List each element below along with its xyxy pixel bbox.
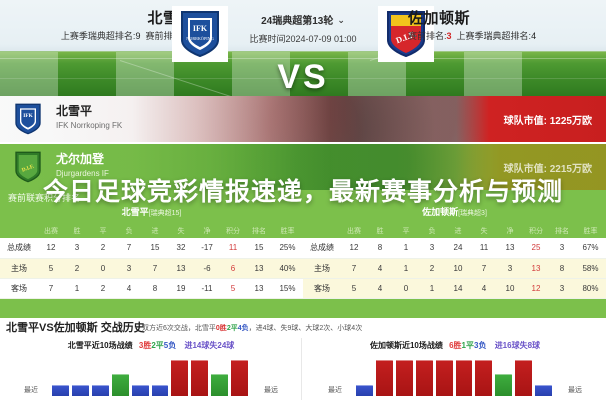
standings-home-header-row: 出赛 胜 平 负 进 失 净 积分 排名 胜率 bbox=[0, 224, 303, 238]
form-away-record: 6胜1平3负 bbox=[449, 341, 486, 350]
standings-away-column: 佐加顿斯[瑞典超3] 出赛 胜 平 负 进 失 净 积分 排名 bbox=[303, 206, 606, 299]
standings-away-header-row: 出赛 胜 平 负 进 失 净 积分 排名 胜率 bbox=[303, 224, 606, 238]
form-away-draws: 1平 bbox=[462, 341, 474, 350]
cell: 5 bbox=[341, 278, 367, 298]
hero-away-team-name: 佐加顿斯 bbox=[408, 10, 606, 28]
match-meta: 24瑞典超第13轮⌄ 比赛时间2024-07-09 01:00 bbox=[232, 14, 374, 46]
standings-home-row-label-guest: 客场 bbox=[0, 278, 38, 298]
cell: 25% bbox=[272, 238, 303, 258]
form-home-chart: 最近 最远 bbox=[0, 358, 302, 400]
standings-col-points-2: 积分 bbox=[523, 224, 549, 238]
form-home-suffix: 近10场战绩 bbox=[92, 341, 133, 350]
team-banner-home: IFK 北雪平 IFK Norrkoping FK 球队市值: 1225万欧 bbox=[0, 96, 606, 142]
h2h-wins: 0胜 bbox=[216, 325, 227, 332]
cell: -6 bbox=[194, 258, 220, 278]
svg-text:IFK: IFK bbox=[23, 113, 33, 119]
cell-points: 13 bbox=[523, 258, 549, 278]
standings-col-ga: 失 bbox=[168, 224, 194, 238]
table-row: 客场 5 4 0 1 14 4 10 12 3 80% bbox=[303, 278, 606, 298]
standings-col-rank-2: 排名 bbox=[549, 224, 575, 238]
cell: 67% bbox=[575, 238, 606, 258]
cell: 12 bbox=[38, 238, 64, 258]
match-hero-banner: 北雪平 上赛季瑞典超排名:9 赛前排名:15 IFK NORRKÖPING 24… bbox=[0, 0, 606, 96]
form-bar bbox=[171, 360, 188, 396]
cell: 0 bbox=[90, 258, 116, 278]
h2h-losses: 4负 bbox=[238, 325, 249, 332]
h2h-title: 北雪平VS佐加顿斯 交战历史 bbox=[6, 321, 145, 336]
form-away-chart: 最近 最远 bbox=[304, 358, 606, 400]
cell: 10 bbox=[497, 278, 523, 298]
form-bar bbox=[52, 385, 69, 396]
svg-text:IFK: IFK bbox=[193, 24, 208, 33]
form-bar bbox=[436, 360, 453, 396]
form-home-axis-recent: 最近 bbox=[24, 386, 38, 396]
form-away-wins: 6胜 bbox=[449, 341, 461, 350]
cell: 15% bbox=[272, 278, 303, 298]
cell: 8 bbox=[367, 238, 393, 258]
away-last-season-value: 4 bbox=[531, 31, 536, 41]
standings-col-gd-2: 净 bbox=[497, 224, 523, 238]
hero-away-team-rankings: 赛前排名:3 上赛季瑞典超排名:4 bbox=[408, 30, 606, 43]
away-prematch-value: 3 bbox=[447, 31, 452, 41]
form-bar bbox=[535, 385, 552, 396]
round-selector[interactable]: 24瑞典超第13轮⌄ bbox=[232, 14, 374, 29]
cell: 1 bbox=[64, 278, 90, 298]
form-bar bbox=[211, 374, 228, 396]
form-bar bbox=[191, 360, 208, 396]
form-away-goals: 进16球失8球 bbox=[495, 341, 540, 350]
cell: 19 bbox=[168, 278, 194, 298]
hero-away-team: 佐加顿斯 赛前排名:3 上赛季瑞典超排名:4 bbox=[400, 10, 606, 43]
banner-home-crest-icon: IFK bbox=[14, 103, 46, 135]
match-preview-page: 北雪平 上赛季瑞典超排名:9 赛前排名:15 IFK NORRKÖPING 24… bbox=[0, 0, 606, 400]
cell: 15 bbox=[142, 238, 168, 258]
cell: 40% bbox=[272, 258, 303, 278]
table-row: 主场 5 2 0 3 7 13 -6 6 13 40% bbox=[0, 258, 303, 278]
banner-home-en-name: IFK Norrkoping FK bbox=[56, 120, 122, 132]
banner-away-market-value: 球队市值: 2215万欧 bbox=[504, 160, 592, 175]
standings-col-loss-2: 负 bbox=[419, 224, 445, 238]
cell: 2 bbox=[90, 238, 116, 258]
home-team-crest-icon: IFK NORRKÖPING bbox=[172, 6, 228, 62]
form-home-team: 北雪平 bbox=[68, 341, 92, 350]
table-row: 客场 7 1 2 4 8 19 -11 5 13 15% bbox=[0, 278, 303, 298]
banner-home-market-value: 球队市值: 1225万欧 bbox=[504, 112, 592, 127]
kickoff-time: 比赛时间2024-07-09 01:00 bbox=[232, 32, 374, 46]
form-chart-home: 北雪平近10场战绩 3胜2平5负 进14球失24球 最近 bbox=[0, 338, 302, 400]
form-bar bbox=[112, 374, 129, 396]
form-home-goals: 进14球失24球 bbox=[184, 341, 234, 350]
cell-points: 6 bbox=[220, 258, 246, 278]
cell: 13 bbox=[168, 258, 194, 278]
cell: 14 bbox=[445, 278, 471, 298]
svg-text:NORRKÖPING: NORRKÖPING bbox=[186, 36, 213, 41]
cell: 13 bbox=[246, 258, 272, 278]
table-row: 总成绩 12 8 1 3 24 11 13 25 3 67% bbox=[303, 238, 606, 258]
standings-home-table: 出赛 胜 平 负 进 失 净 积分 排名 胜率 总成绩 bbox=[0, 224, 303, 299]
standings-away-table: 出赛 胜 平 负 进 失 净 积分 排名 胜率 总成绩 bbox=[303, 224, 606, 299]
form-home-wins: 3胜 bbox=[139, 341, 151, 350]
banner-away-name: 尤尔加登 bbox=[56, 151, 104, 167]
cell: 13 bbox=[246, 278, 272, 298]
cell: 3 bbox=[497, 258, 523, 278]
form-bar bbox=[456, 360, 473, 396]
standings-col-played-2: 出赛 bbox=[341, 224, 367, 238]
form-home-record: 3胜2平5负 bbox=[139, 341, 176, 350]
standings-home-column: 北雪平[瑞典超15] 出赛 胜 平 负 进 失 净 积分 排名 bbox=[0, 206, 303, 299]
form-bar bbox=[515, 360, 532, 396]
cell: 2 bbox=[419, 258, 445, 278]
team-banner-away: D.I.F. 尤尔加登 Djurgardens IF 球队市值: 2215万欧 bbox=[0, 144, 606, 190]
standings-away-team: 佐加顿斯[瑞典超3] bbox=[303, 206, 606, 220]
round-label: 24瑞典超第13轮 bbox=[261, 16, 333, 27]
standings-col-gf: 进 bbox=[142, 224, 168, 238]
form-bar bbox=[495, 374, 512, 396]
standings-home-row-label-host: 主场 bbox=[0, 258, 38, 278]
cell: 0 bbox=[393, 278, 419, 298]
standings-col-draw-2: 平 bbox=[393, 224, 419, 238]
standings-col-winrate: 胜率 bbox=[272, 224, 303, 238]
banner-away-value-chip: 球队市值: 2215万欧 bbox=[456, 144, 606, 190]
form-bar bbox=[152, 385, 169, 396]
form-bar bbox=[376, 360, 393, 396]
cell: 8 bbox=[142, 278, 168, 298]
cell: 3 bbox=[116, 258, 142, 278]
form-away-losses: 3负 bbox=[474, 341, 486, 350]
standings-home-team-name: 北雪平 bbox=[122, 207, 149, 217]
h2h-summary-post: ，进4球、失9球、大球2次、小球4次 bbox=[249, 325, 363, 332]
hero-home-team-name: 北雪平 bbox=[0, 10, 194, 28]
home-last-season-label: 上赛季瑞典超排名: bbox=[61, 31, 136, 41]
cell: 3 bbox=[549, 278, 575, 298]
h2h-summary: 双方近6次交战，北雪平0胜2平4负，进4球、失9球、大球2次、小球4次 bbox=[142, 323, 362, 334]
standings-col-draw: 平 bbox=[90, 224, 116, 238]
cell: 58% bbox=[575, 258, 606, 278]
standings-away-row-label-host: 主场 bbox=[303, 258, 341, 278]
form-charts-section: 北雪平近10场战绩 3胜2平5负 进14球失24球 最近 bbox=[0, 338, 606, 400]
form-bar bbox=[396, 360, 413, 396]
form-away-bars bbox=[356, 360, 552, 396]
cell: 7 bbox=[116, 238, 142, 258]
cell: 7 bbox=[471, 258, 497, 278]
cell: 4 bbox=[471, 278, 497, 298]
standings-panel: 赛前联赛积分排名 北雪平[瑞典超15] 出赛 胜 平 负 进 失 净 bbox=[0, 190, 606, 318]
cell: 8 bbox=[549, 258, 575, 278]
form-bar bbox=[92, 385, 109, 396]
standings-away-corner bbox=[303, 224, 341, 238]
cell: 80% bbox=[575, 278, 606, 298]
cell: -11 bbox=[194, 278, 220, 298]
form-away-team: 佐加顿斯 bbox=[370, 341, 402, 350]
cell: -17 bbox=[194, 238, 220, 258]
h2h-summary-pre: 双方近6次交战，北雪平 bbox=[142, 325, 216, 332]
cell: 4 bbox=[116, 278, 142, 298]
h2h-draws: 2平 bbox=[227, 325, 238, 332]
standings-col-win-2: 胜 bbox=[367, 224, 393, 238]
standings-title: 赛前联赛积分排名 bbox=[8, 192, 80, 205]
standings-col-played: 出赛 bbox=[38, 224, 64, 238]
form-away-axis-recent: 最近 bbox=[328, 386, 342, 396]
form-bar bbox=[132, 385, 149, 396]
cell: 2 bbox=[64, 258, 90, 278]
cell-points: 12 bbox=[523, 278, 549, 298]
form-bar bbox=[416, 360, 433, 396]
head-to-head-section: 北雪平VS佐加顿斯 交战历史 双方近6次交战，北雪平0胜2平4负，进4球、失9球… bbox=[0, 318, 606, 338]
standings-col-win: 胜 bbox=[64, 224, 90, 238]
cell: 4 bbox=[367, 258, 393, 278]
cell-points: 5 bbox=[220, 278, 246, 298]
standings-col-rank: 排名 bbox=[246, 224, 272, 238]
form-bar bbox=[356, 385, 373, 396]
banner-home-name: 北雪平 bbox=[56, 103, 92, 119]
form-bar bbox=[231, 360, 248, 396]
cell: 7 bbox=[142, 258, 168, 278]
banner-fade-overlay bbox=[0, 96, 330, 142]
standings-col-points: 积分 bbox=[220, 224, 246, 238]
vs-label: VS bbox=[0, 60, 606, 94]
banner-fade-overlay-2 bbox=[0, 144, 330, 190]
form-home-losses: 5负 bbox=[164, 341, 176, 350]
banner-away-crest-icon: D.I.F. bbox=[14, 151, 46, 183]
chevron-down-icon: ⌄ bbox=[337, 13, 345, 27]
cell: 1 bbox=[419, 278, 445, 298]
cell: 5 bbox=[38, 258, 64, 278]
standings-home-team: 北雪平[瑞典超15] bbox=[0, 206, 303, 220]
form-away-axis-oldest: 最远 bbox=[568, 386, 582, 396]
cell: 12 bbox=[341, 238, 367, 258]
banner-home-value-chip: 球队市值: 1225万欧 bbox=[456, 96, 606, 142]
form-home-bars bbox=[52, 360, 248, 396]
hero-home-team: 北雪平 上赛季瑞典超排名:9 赛前排名:15 bbox=[0, 10, 200, 43]
cell-points: 25 bbox=[523, 238, 549, 258]
cell-points: 11 bbox=[220, 238, 246, 258]
standings-col-ga-2: 失 bbox=[471, 224, 497, 238]
standings-away-row-label-guest: 客场 bbox=[303, 278, 341, 298]
form-home-heading: 北雪平近10场战绩 3胜2平5负 进14球失24球 bbox=[0, 340, 302, 352]
cell: 1 bbox=[393, 258, 419, 278]
cell: 15 bbox=[246, 238, 272, 258]
cell: 11 bbox=[471, 238, 497, 258]
form-away-suffix: 近10场战绩 bbox=[402, 341, 443, 350]
standings-away-row-label-total: 总成绩 bbox=[303, 238, 341, 258]
standings-col-winrate-2: 胜率 bbox=[575, 224, 606, 238]
cell: 13 bbox=[497, 238, 523, 258]
standings-home-league-tag: [瑞典超15] bbox=[149, 210, 182, 217]
away-prematch-label: 赛前排名: bbox=[408, 31, 447, 41]
form-away-heading: 佐加顿斯近10场战绩 6胜1平3负 进16球失8球 bbox=[304, 340, 606, 352]
hero-home-team-rankings: 上赛季瑞典超排名:9 赛前排名:15 bbox=[0, 30, 194, 43]
standings-away-league-tag: [瑞典超3] bbox=[458, 210, 487, 217]
table-row: 主场 7 4 1 2 10 7 3 13 8 58% bbox=[303, 258, 606, 278]
standings-home-row-label-total: 总成绩 bbox=[0, 238, 38, 258]
banner-away-en-name: Djurgardens IF bbox=[56, 168, 109, 180]
cell: 1 bbox=[393, 238, 419, 258]
away-last-season-label: 上赛季瑞典超排名: bbox=[457, 31, 532, 41]
cell: 3 bbox=[64, 238, 90, 258]
form-home-draws: 2平 bbox=[151, 341, 163, 350]
cell: 2 bbox=[90, 278, 116, 298]
form-chart-away: 佐加顿斯近10场战绩 6胜1平3负 进16球失8球 最近 bbox=[304, 338, 606, 400]
cell: 10 bbox=[445, 258, 471, 278]
cell: 24 bbox=[445, 238, 471, 258]
standings-home-corner bbox=[0, 224, 38, 238]
form-bar bbox=[72, 385, 89, 396]
cell: 7 bbox=[341, 258, 367, 278]
home-last-season-value: 9 bbox=[135, 31, 140, 41]
standings-away-team-name: 佐加顿斯 bbox=[422, 207, 458, 217]
standings-col-loss: 负 bbox=[116, 224, 142, 238]
form-home-axis-oldest: 最远 bbox=[264, 386, 278, 396]
cell: 4 bbox=[367, 278, 393, 298]
standings-col-gd: 净 bbox=[194, 224, 220, 238]
cell: 3 bbox=[549, 238, 575, 258]
form-bar bbox=[475, 360, 492, 396]
standings-col-gf-2: 进 bbox=[445, 224, 471, 238]
cell: 7 bbox=[38, 278, 64, 298]
cell: 32 bbox=[168, 238, 194, 258]
cell: 3 bbox=[419, 238, 445, 258]
table-row: 总成绩 12 3 2 7 15 32 -17 11 15 25% bbox=[0, 238, 303, 258]
